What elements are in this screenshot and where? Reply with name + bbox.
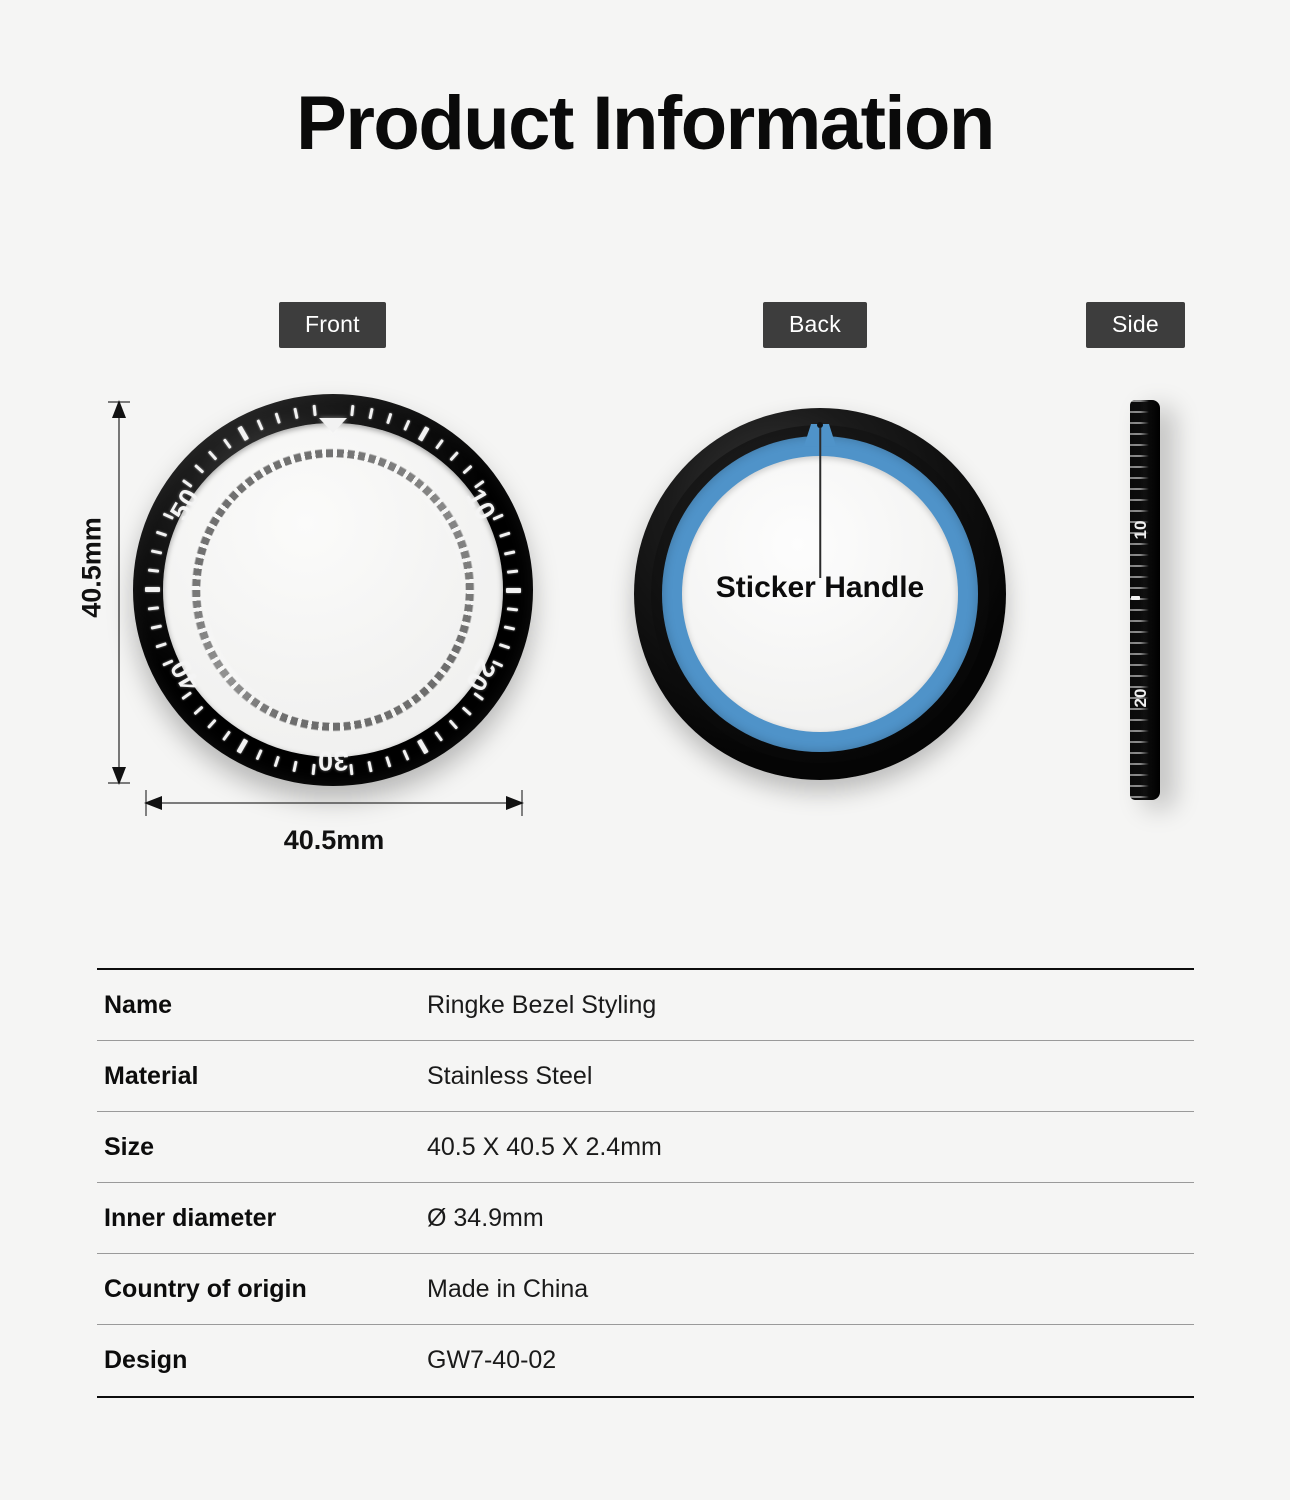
bezel-back-view: Sticker Handle <box>634 408 1006 780</box>
dimension-horizontal-arrow <box>144 786 524 822</box>
table-row: DesignGW7-40-02 <box>97 1325 1194 1396</box>
spec-value: Ringke Bezel Styling <box>427 991 656 1020</box>
sticker-handle-label: Sticker Handle <box>716 571 924 605</box>
page-title: Product Information <box>0 82 1290 166</box>
bezel-side-knurl-texture <box>1130 400 1149 800</box>
spec-label: Country of origin <box>97 1275 427 1304</box>
view-badge-side: Side <box>1086 302 1185 348</box>
bezel-number-label: 10 <box>454 474 507 535</box>
dimension-horizontal-label: 40.5mm <box>144 825 524 856</box>
spec-label: Material <box>97 1062 427 1091</box>
spec-value: Stainless Steel <box>427 1062 592 1091</box>
specification-table: NameRingke Bezel StylingMaterialStainles… <box>97 968 1194 1398</box>
table-row: MaterialStainless Steel <box>97 1041 1194 1112</box>
view-badge-back: Back <box>763 302 867 348</box>
table-row: Country of originMade in China <box>97 1254 1194 1325</box>
bezel-number-label: 40 <box>159 645 212 706</box>
dimension-vertical: 40.5mm <box>60 400 130 785</box>
spec-value: 40.5 X 40.5 X 2.4mm <box>427 1133 662 1162</box>
bezel-side-view: 10 20 <box>1124 400 1184 800</box>
spec-label: Name <box>97 991 427 1020</box>
table-row: Inner diameterØ 34.9mm <box>97 1183 1194 1254</box>
spec-value: Ø 34.9mm <box>427 1204 544 1233</box>
table-row: Size40.5 X 40.5 X 2.4mm <box>97 1112 1194 1183</box>
bezel-side-number: 10 <box>1131 517 1151 543</box>
spec-label: Inner diameter <box>97 1204 427 1233</box>
dimension-vertical-label: 40.5mm <box>77 478 108 658</box>
spec-label: Size <box>97 1133 427 1162</box>
triangle-marker-icon <box>319 418 347 433</box>
bezel-side-tick <box>1131 596 1140 600</box>
product-information-page: Product Information Front 40.5mm 1020304… <box>0 0 1290 1500</box>
bezel-front-view: 1020304050 <box>133 394 533 786</box>
spec-value: GW7-40-02 <box>427 1346 556 1375</box>
callout-anchor-dot <box>817 422 823 428</box>
table-row: NameRingke Bezel Styling <box>97 970 1194 1041</box>
spec-value: Made in China <box>427 1275 588 1304</box>
bezel-side-number: 20 <box>1131 685 1151 711</box>
bezel-front-markings: 1020304050 <box>133 394 533 786</box>
view-badge-front: Front <box>279 302 386 348</box>
callout-leader-line <box>819 428 821 578</box>
spec-label: Design <box>97 1346 427 1375</box>
